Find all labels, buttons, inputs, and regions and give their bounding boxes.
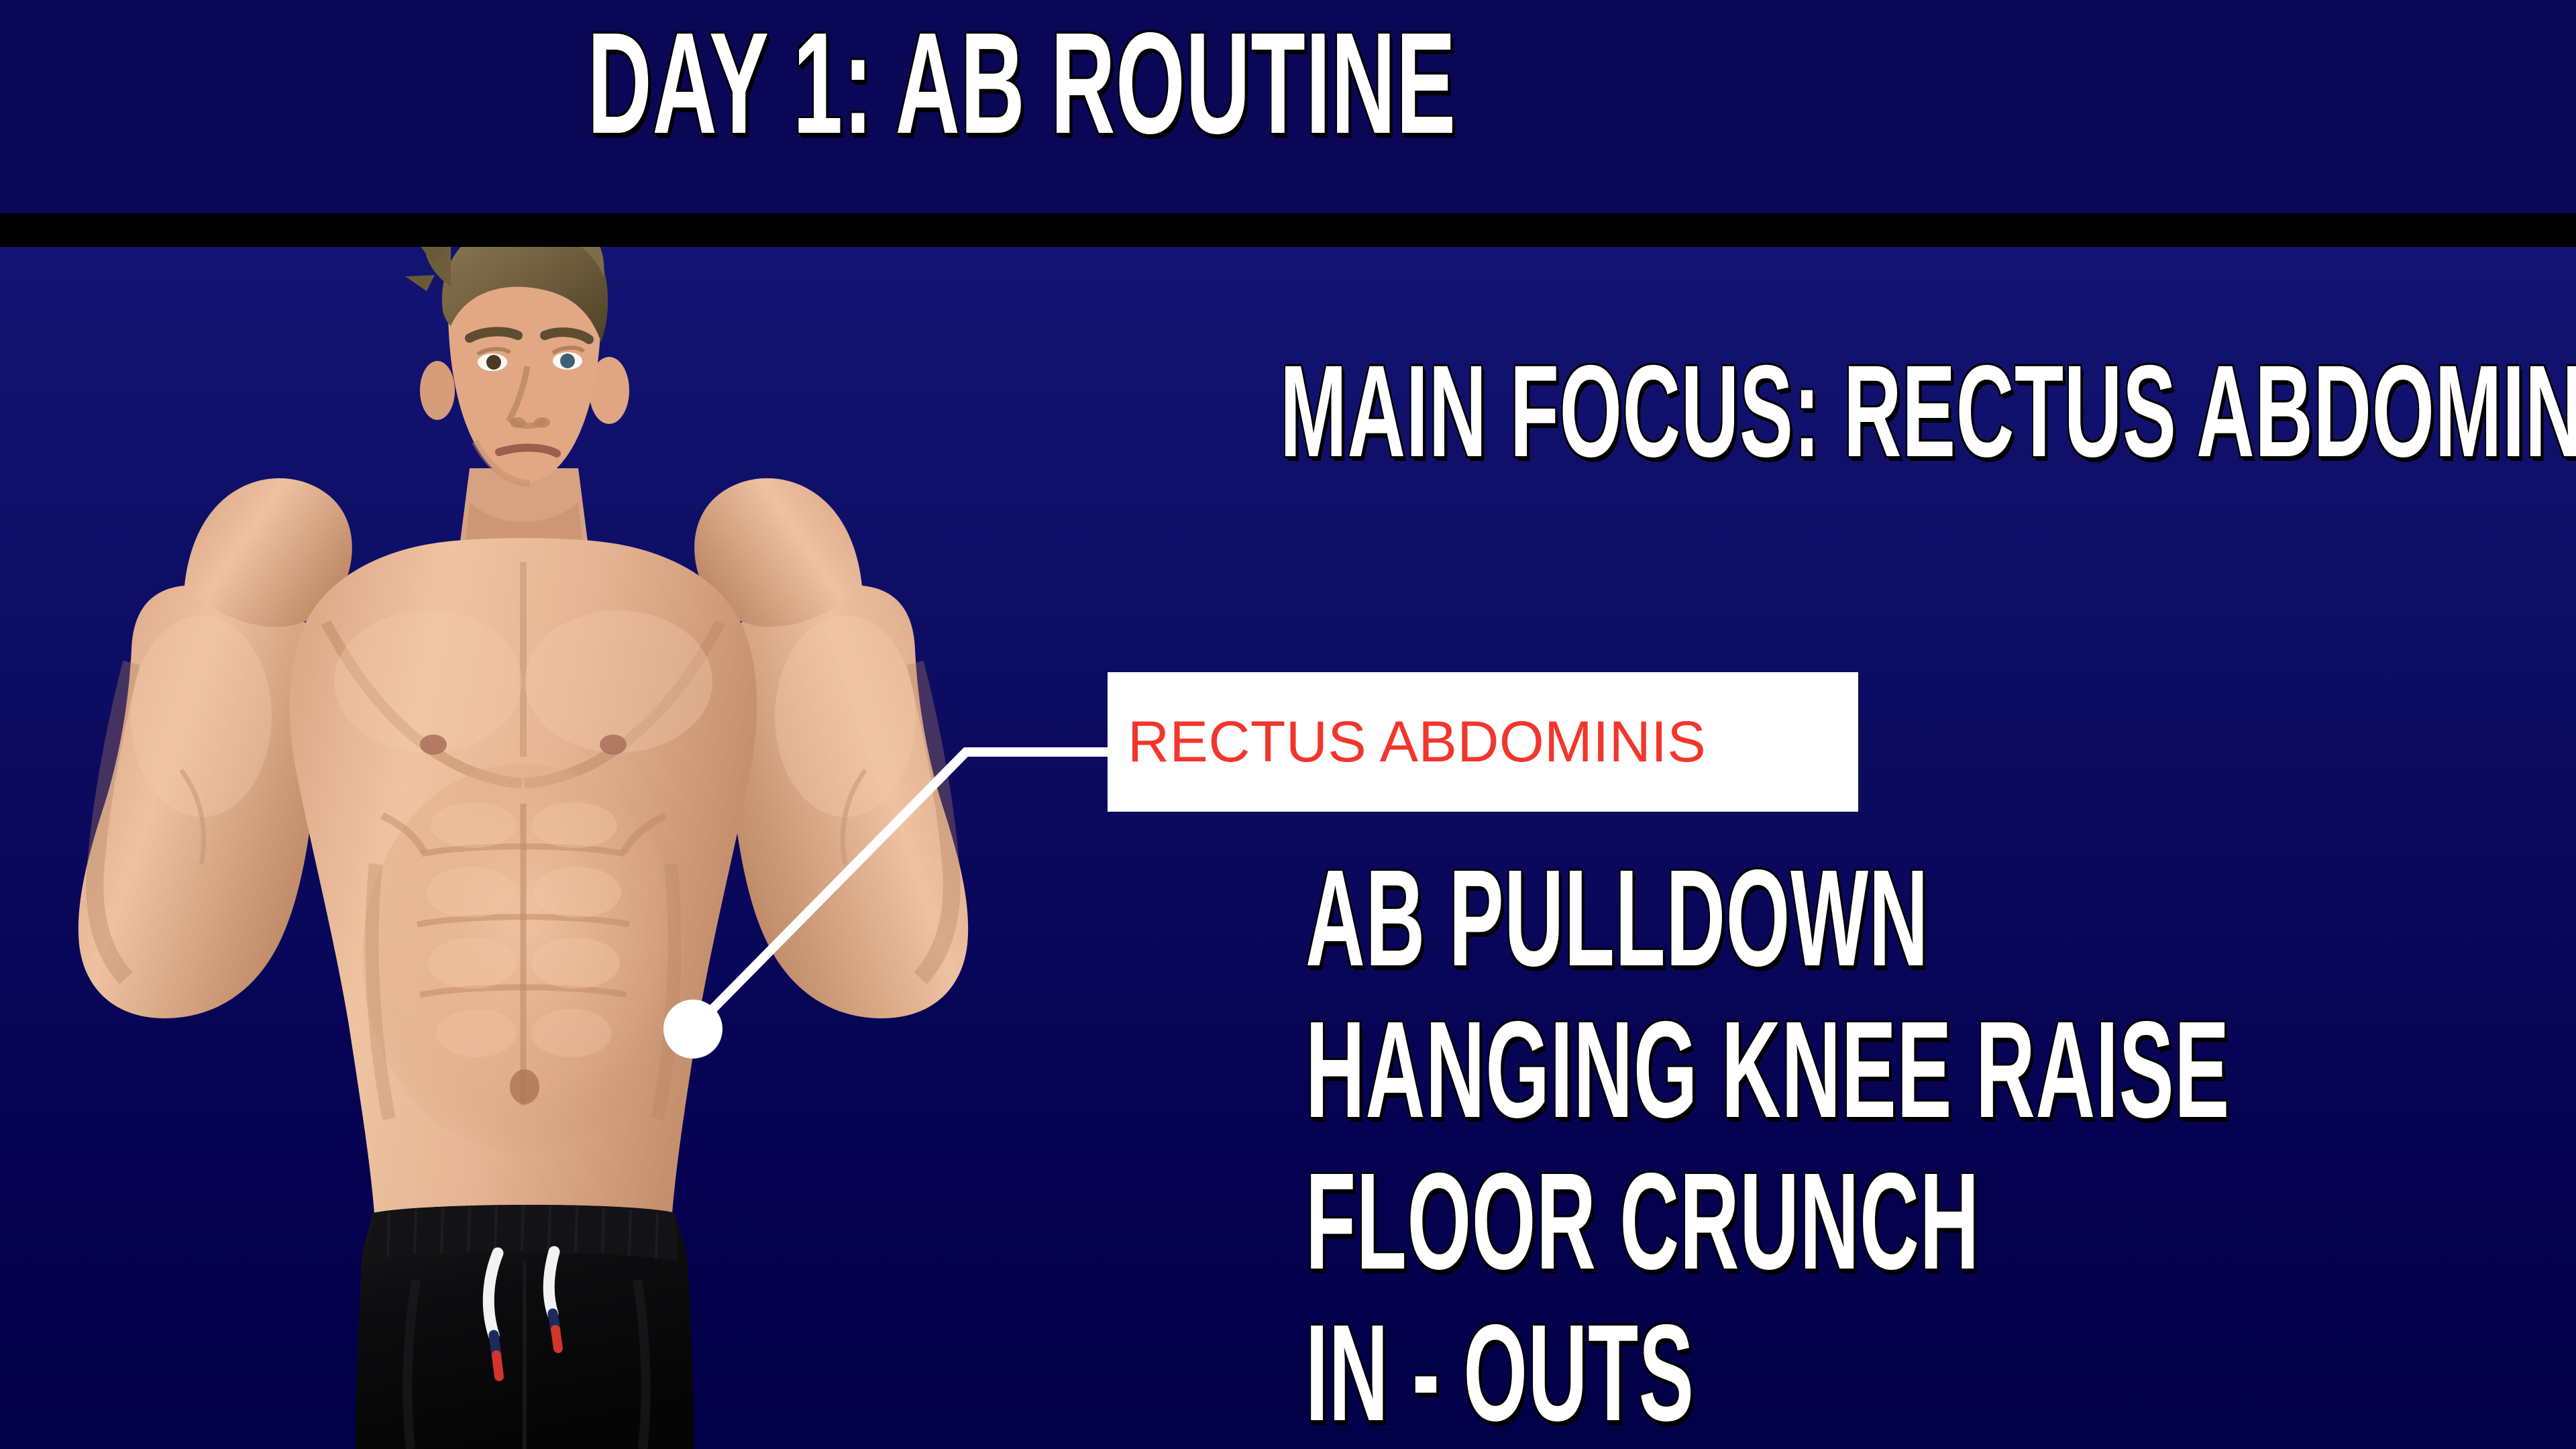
list-item: FLOOR CRUNCH (1305, 1146, 2070, 1297)
divider-bar (0, 213, 2576, 247)
list-item: HANGING KNEE RAISE (1305, 994, 2070, 1146)
shorts (356, 1205, 694, 1449)
torso (290, 538, 757, 1234)
main-focus-heading: MAIN FOCUS: RECTUS ABDOMINIS (1280, 346, 2576, 477)
figure-photo (0, 247, 1207, 1449)
exercise-list: AB PULLDOWN HANGING KNEE RAISE FLOOR CRU… (1305, 843, 2576, 1449)
head (405, 247, 629, 483)
list-item: AB PULLDOWN (1305, 843, 2070, 994)
infographic-slide: DAY 1: AB ROUTINE (0, 0, 2576, 1449)
list-item: IN - OUTS (1305, 1297, 2070, 1449)
page-title: DAY 1: AB ROUTINE (587, 11, 1456, 155)
callout-label: RECTUS ABDOMINIS (1108, 709, 1706, 775)
callout-box: RECTUS ABDOMINIS (1108, 672, 1858, 812)
